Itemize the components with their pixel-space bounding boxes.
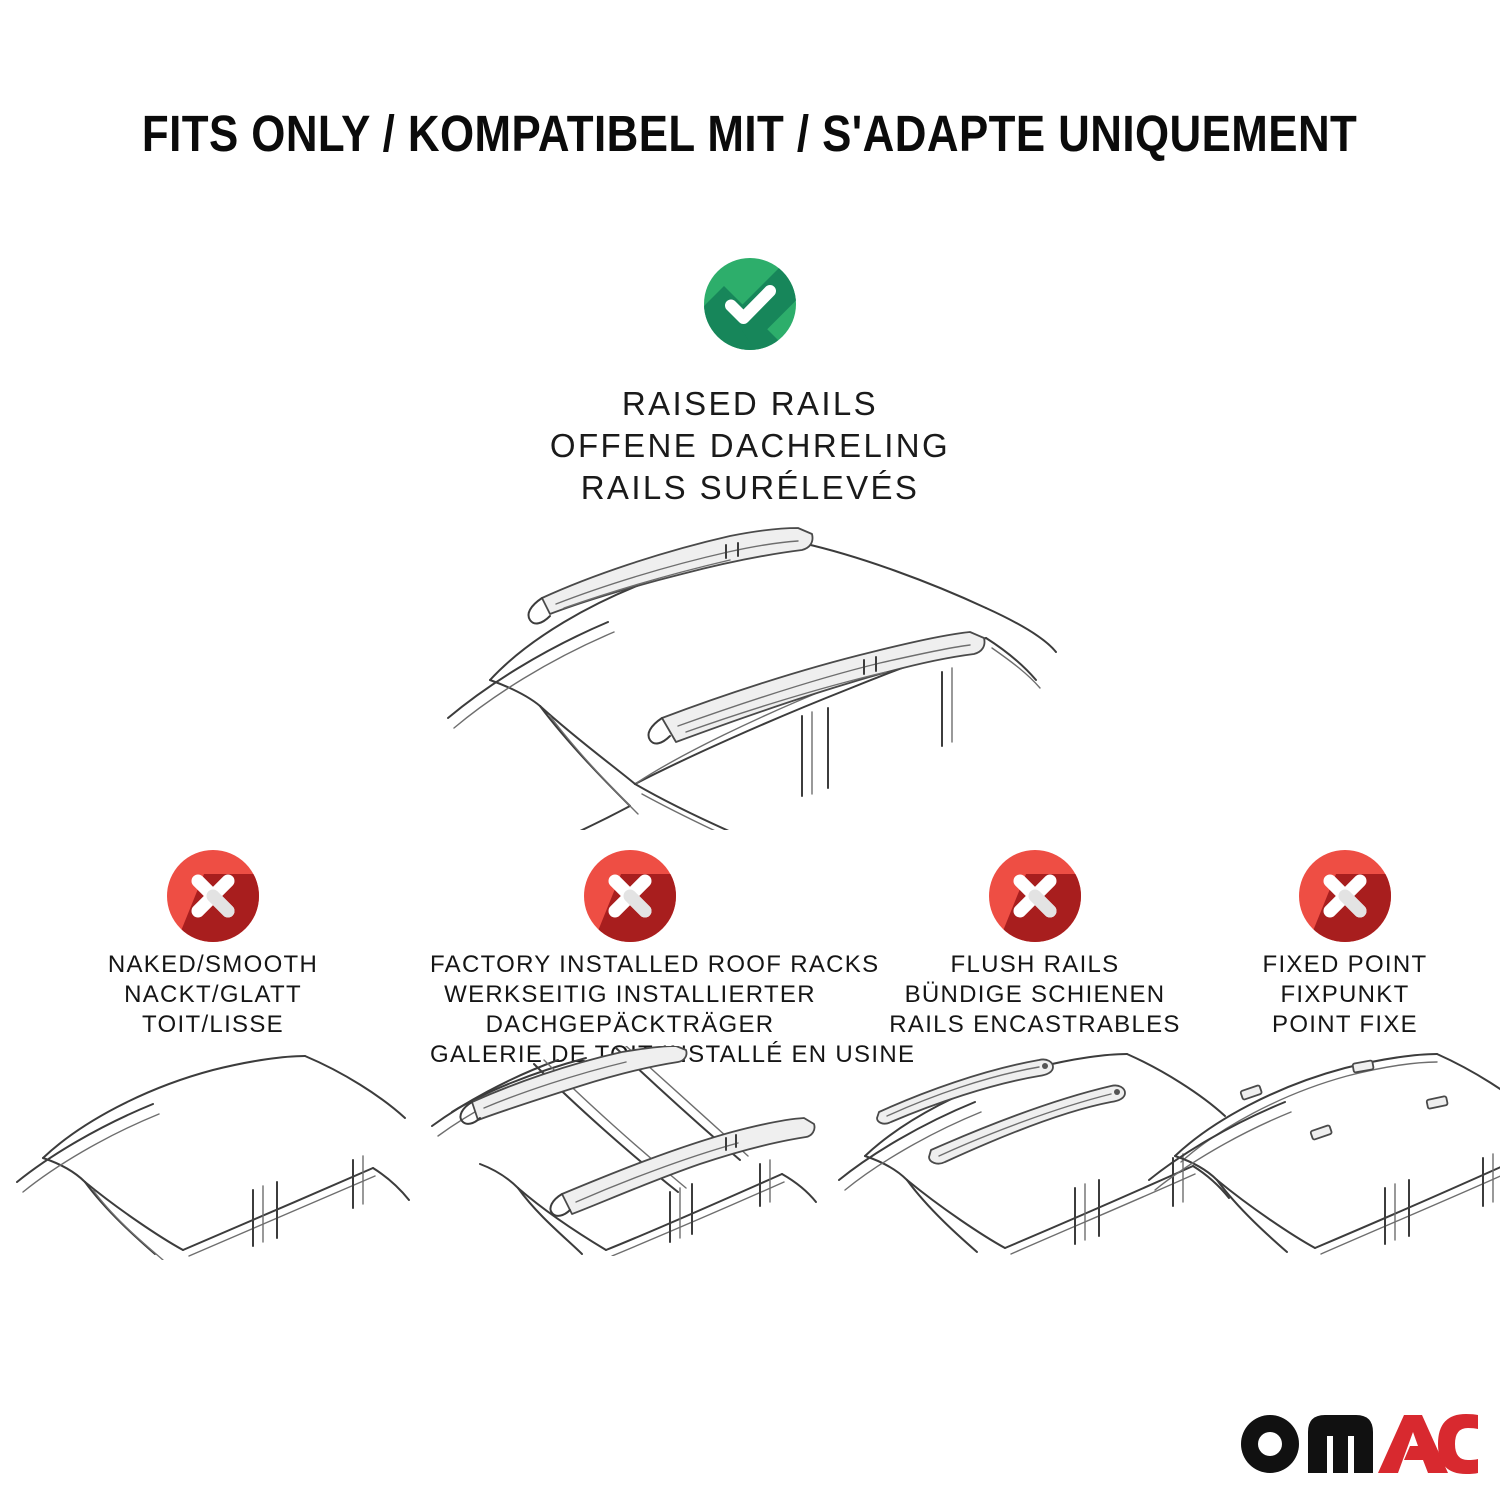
car-roof-factory-racks-illustration [430,1046,830,1256]
cross-mark-glyph [989,850,1081,942]
compatible-line-0: RAISED RAILS [0,383,1500,425]
cross-mark-glyph [1299,850,1391,942]
page-title: FITS ONLY / KOMPATIBEL MIT / S'ADAPTE UN… [0,104,1500,164]
car-roof-raised-rails-illustration [430,510,1070,830]
compatible-section: RAISED RAILS OFFENE DACHRELING RAILS SUR… [0,258,1500,509]
incompatible-caption-fixed-point: FIXED POINT FIXPUNKT POINT FIXE [1145,950,1500,1040]
compatible-caption: RAISED RAILS OFFENE DACHRELING RAILS SUR… [0,383,1500,509]
page-title-text: FITS ONLY / KOMPATIBEL MIT / S'ADAPTE UN… [142,104,1357,164]
cross-circle-icon [989,850,1081,942]
logo-letter-m [1308,1415,1373,1473]
compatible-line-2: RAILS SURÉLEVÉS [0,467,1500,509]
check-mark-glyph [704,258,796,350]
logo-letter-c [1438,1414,1478,1474]
caption-line-2: TOIT/LISSE [13,1010,413,1040]
caption-line-1: FIXPUNKT [1145,980,1500,1010]
incompatible-item-factory-racks: FACTORY INSTALLED ROOF RACKS WERKSEITIG … [430,850,830,1070]
incompatible-caption-naked: NAKED/SMOOTH NACKT/GLATT TOIT/LISSE [13,950,413,1040]
cross-mark-glyph [584,850,676,942]
caption-line-0: NAKED/SMOOTH [13,950,413,980]
cross-mark-glyph [167,850,259,942]
check-circle-icon [704,258,796,350]
incompatible-item-naked: NAKED/SMOOTH NACKT/GLATT TOIT/LISSE [13,850,413,1040]
cross-circle-icon [1299,850,1391,942]
car-roof-naked-illustration [13,1050,413,1260]
caption-line-1: WERKSEITIG INSTALLIERTER [430,980,830,1010]
caption-line-1: NACKT/GLATT [13,980,413,1010]
compatible-line-1: OFFENE DACHRELING [0,425,1500,467]
cross-circle-icon [167,850,259,942]
caption-line-0: FIXED POINT [1145,950,1500,980]
logo-letter-a [1378,1415,1448,1473]
caption-line-0: FACTORY INSTALLED ROOF RACKS [430,950,830,980]
car-roof-fixed-point-illustration [1145,1050,1500,1260]
incompatible-item-fixed-point: FIXED POINT FIXPUNKT POINT FIXE [1145,850,1500,1040]
caption-line-2: POINT FIXE [1145,1010,1500,1040]
caption-line-2: DACHGEPÄCKTRÄGER [430,1010,830,1040]
cross-circle-icon [584,850,676,942]
incompatible-section: NAKED/SMOOTH NACKT/GLATT TOIT/LISSE [0,850,1500,1330]
omac-logo [1238,1408,1478,1478]
